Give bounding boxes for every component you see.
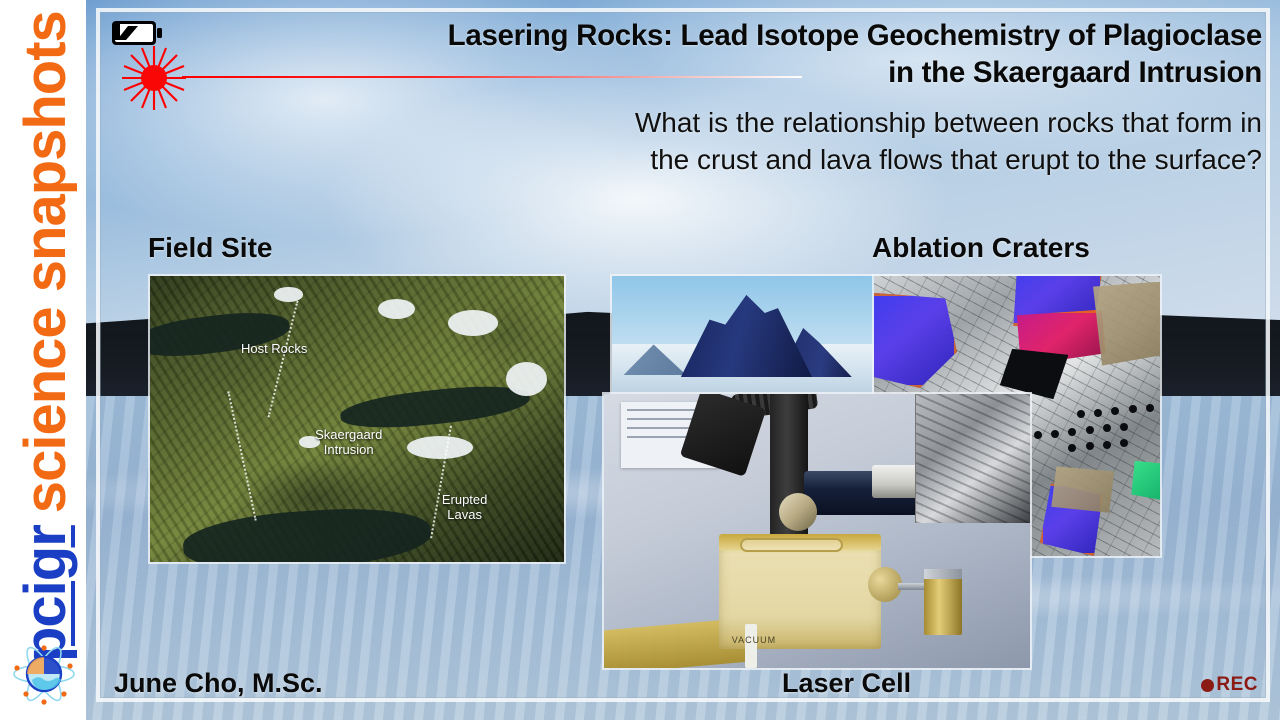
ablation-cell-window — [740, 538, 842, 552]
map-snow-2 — [448, 310, 498, 336]
brand-secondary-text: science snapshots — [12, 11, 79, 513]
crystal-green — [1131, 461, 1162, 500]
laser-burst-icon — [122, 46, 186, 110]
ablation-craters-heading: Ablation Craters — [872, 232, 1090, 264]
rec-indicator: REC — [1201, 674, 1258, 696]
vacuum-label: VACUUM — [732, 635, 776, 645]
battery-half-icon — [111, 20, 163, 46]
subtitle-line-2: the crust and lava flows that erupt to t… — [462, 141, 1262, 178]
page-title: Lasering Rocks: Lead Isotope Geochemistr… — [322, 17, 1262, 91]
brass-cylinder — [924, 569, 962, 635]
field-site-map-image: Host Rocks Skaergaard Intrusion Erupted … — [148, 274, 566, 564]
globe-atom-logo-icon — [12, 642, 76, 706]
brand-wordmark: pcigr science snapshots — [2, 10, 88, 670]
slide-canvas: Lasering Rocks: Lead Isotope Geochemistr… — [86, 0, 1280, 720]
author-name: June Cho, M.Sc. — [114, 668, 323, 699]
ablation-cell-body — [719, 539, 881, 649]
map-snow-4 — [274, 287, 303, 301]
map-label-host-rocks: Host Rocks — [191, 342, 357, 357]
field-site-heading: Field Site — [148, 232, 272, 264]
brand-sidebar: pcigr science snapshots — [0, 0, 86, 720]
adjustment-knob — [779, 493, 817, 531]
rec-label: REC — [1216, 674, 1258, 696]
map-label-skaergaard-l1: Skaergaard — [266, 428, 432, 443]
laser-cell-heading: Laser Cell — [782, 668, 911, 699]
map-label-erupted-lavas: Erupted Lavas — [398, 493, 530, 523]
record-dot-icon — [1201, 679, 1214, 692]
subtitle-line-1: What is the relationship between rocks t… — [462, 104, 1262, 141]
subtitle-question: What is the relationship between rocks t… — [462, 104, 1262, 178]
title-line-2: in the Skaergaard Intrusion — [322, 54, 1262, 91]
map-label-erupted-l2: Lavas — [398, 508, 530, 523]
vacuum-tube — [745, 624, 758, 668]
title-line-1: Lasering Rocks: Lead Isotope Geochemistr… — [322, 17, 1262, 54]
map-label-skaergaard: Skaergaard Intrusion — [266, 428, 432, 458]
map-label-erupted-l1: Erupted — [398, 493, 530, 508]
map-label-skaergaard-l2: Intrusion — [266, 443, 432, 458]
map-snow-1 — [378, 299, 415, 319]
mountain-photo — [610, 274, 900, 396]
camera-view-inset — [915, 394, 1030, 523]
laser-cell-image: VACUUM — [602, 392, 1032, 670]
